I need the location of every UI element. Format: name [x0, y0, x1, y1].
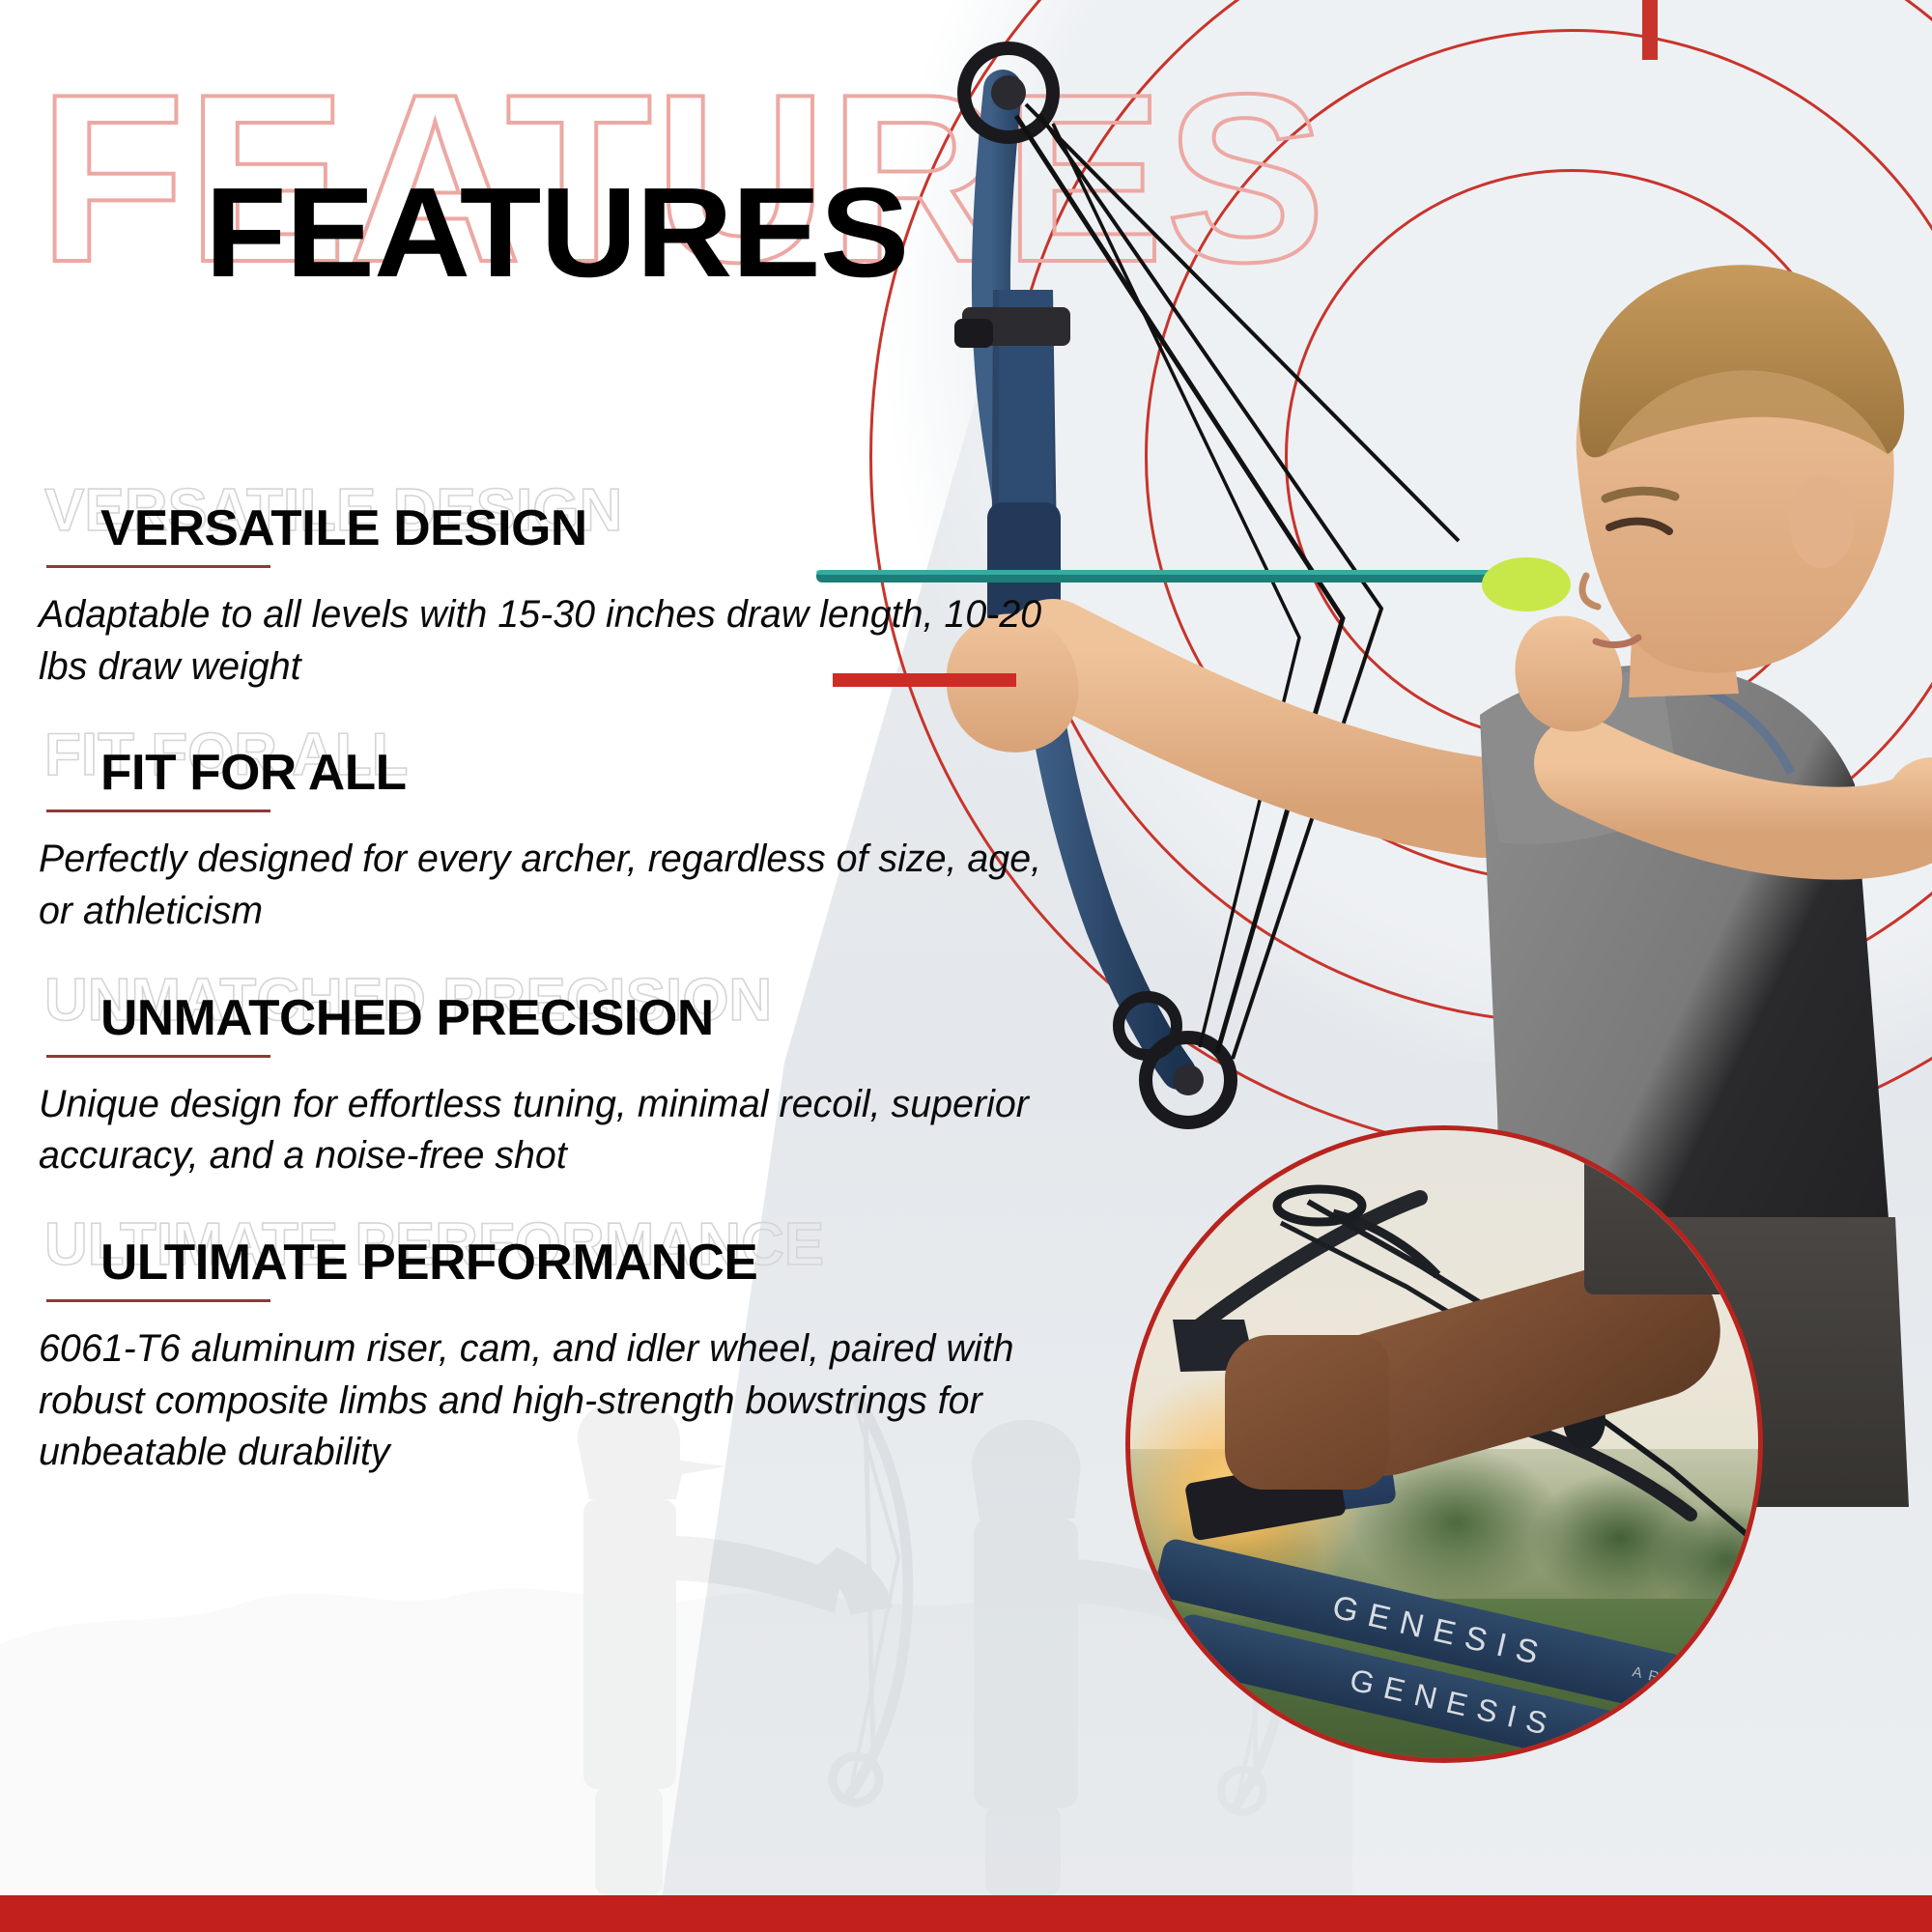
inset-photo: GENESIS ARCHERY GENESIS — [1125, 1125, 1763, 1763]
feature-rule — [46, 1055, 270, 1058]
feature-rule — [46, 1299, 270, 1302]
inset-fist — [1225, 1335, 1389, 1490]
feature-item: FIT FOR ALL FIT FOR ALL Perfectly design… — [0, 747, 1121, 937]
feature-rule — [46, 565, 270, 568]
feature-heading: FIT FOR ALL — [100, 747, 1141, 800]
feature-item: UNMATCHED PRECISION UNMATCHED PRECISION … — [0, 992, 1121, 1182]
feature-item: VERSATILE DESIGN VERSATILE DESIGN Adapta… — [0, 502, 1121, 693]
features-list: VERSATILE DESIGN VERSATILE DESIGN Adapta… — [0, 502, 1121, 1512]
page-title: FEATURES — [205, 169, 908, 297]
inset-shorts — [1584, 1125, 1763, 1294]
feature-rule — [46, 810, 270, 812]
feature-heading: UNMATCHED PRECISION — [100, 992, 1141, 1045]
feature-item: ULTIMATE PERFORMANCE ULTIMATE PERFORMANC… — [0, 1236, 1121, 1479]
feature-body: Perfectly designed for every archer, reg… — [39, 834, 1066, 937]
feature-body: 6061-T6 aluminum riser, cam, and idler w… — [39, 1323, 1104, 1479]
feature-body: Unique design for effortless tuning, min… — [39, 1079, 1066, 1182]
bottom-accent-bar — [0, 1895, 1932, 1932]
feature-heading: ULTIMATE PERFORMANCE — [100, 1236, 1141, 1290]
target-tick-left — [833, 673, 1016, 687]
feature-heading: VERSATILE DESIGN — [100, 502, 1141, 555]
features-infographic: FEATURES — [0, 0, 1932, 1932]
